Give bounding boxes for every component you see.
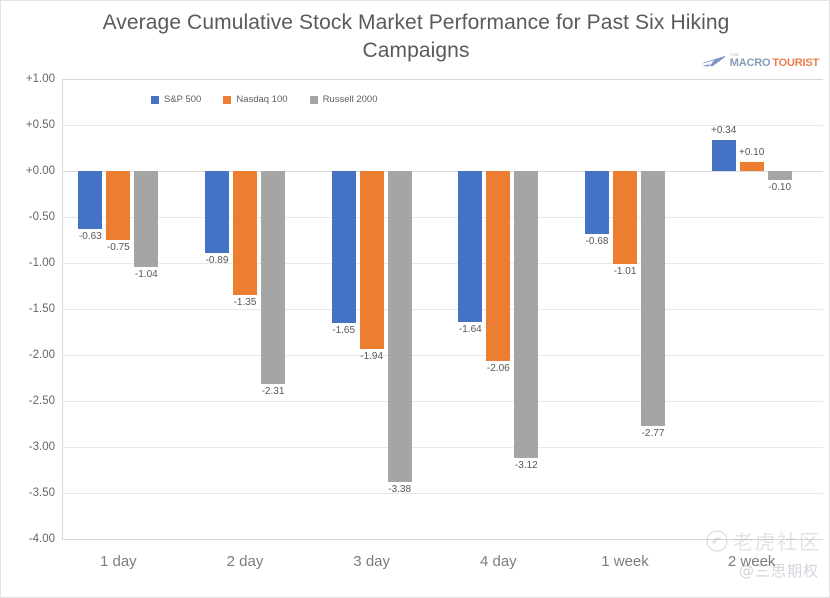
y-axis-tick-label: -2.50	[9, 395, 55, 407]
y-axis-tick-label: +1.00	[9, 73, 55, 85]
bar-value-label: -1.04	[123, 269, 169, 280]
y-axis-tick-label: -3.50	[9, 487, 55, 499]
plot-area: -0.63-0.75-1.04-0.89-1.35-2.31-1.65-1.94…	[63, 79, 823, 539]
bar-value-label: -3.12	[503, 460, 549, 471]
brand-macro-text: MACRO	[730, 58, 771, 69]
bar[interactable]	[332, 171, 356, 323]
y-axis-tick-label: -3.00	[9, 441, 55, 453]
bar[interactable]	[486, 171, 510, 361]
bar[interactable]	[585, 171, 609, 234]
y-axis-tick-label: +0.00	[9, 165, 55, 177]
y-axis-tick-label: -4.00	[9, 533, 55, 545]
gridline	[63, 539, 823, 540]
bar[interactable]	[740, 162, 764, 171]
gridline	[63, 401, 823, 402]
brand-wordmark: THE MACROTOURIST	[730, 53, 819, 69]
macro-tourist-logo: THE MACROTOURIST	[700, 53, 819, 69]
x-axis-category-label: 3 day	[353, 553, 390, 570]
bar[interactable]	[205, 171, 229, 253]
gridline	[63, 79, 823, 80]
bar[interactable]	[134, 171, 158, 267]
chart-title: Average Cumulative Stock Market Performa…	[71, 9, 761, 65]
bar[interactable]	[78, 171, 102, 229]
bar[interactable]	[514, 171, 538, 458]
y-axis-tick-label: -0.50	[9, 211, 55, 223]
bar[interactable]	[106, 171, 130, 240]
bar-value-label: +0.10	[729, 147, 775, 158]
bar[interactable]	[458, 171, 482, 322]
bar[interactable]	[360, 171, 384, 349]
airplane-icon	[700, 54, 726, 68]
gridline	[63, 355, 823, 356]
bar[interactable]	[261, 171, 285, 384]
bar-value-label: -2.77	[630, 428, 676, 439]
y-axis-tick-label: -1.00	[9, 257, 55, 269]
bar-value-label: +0.34	[701, 125, 747, 136]
y-axis-tick-label: -1.50	[9, 303, 55, 315]
x-axis-category-label: 1 week	[601, 553, 649, 570]
gridline	[63, 493, 823, 494]
bar[interactable]	[641, 171, 665, 426]
bar[interactable]	[613, 171, 637, 264]
gridline	[63, 447, 823, 448]
chart-container: Average Cumulative Stock Market Performa…	[0, 0, 830, 598]
x-axis-category-label: 2 day	[227, 553, 264, 570]
y-axis-tick-label: -2.00	[9, 349, 55, 361]
gridline	[63, 309, 823, 310]
brand-tourist-text: TOURIST	[772, 58, 819, 69]
gridline	[63, 263, 823, 264]
x-axis-category-label: 1 day	[100, 553, 137, 570]
bar-value-label: -2.31	[250, 386, 296, 397]
bar[interactable]	[388, 171, 412, 482]
x-axis-category-label: 2 week	[728, 553, 776, 570]
bar[interactable]	[768, 171, 792, 180]
bar-value-label: -3.38	[377, 484, 423, 495]
y-axis-tick-label: +0.50	[9, 119, 55, 131]
gridline	[63, 171, 823, 172]
x-axis-category-label: 4 day	[480, 553, 517, 570]
bar[interactable]	[233, 171, 257, 295]
bar-value-label: -0.10	[757, 182, 803, 193]
gridline	[63, 217, 823, 218]
